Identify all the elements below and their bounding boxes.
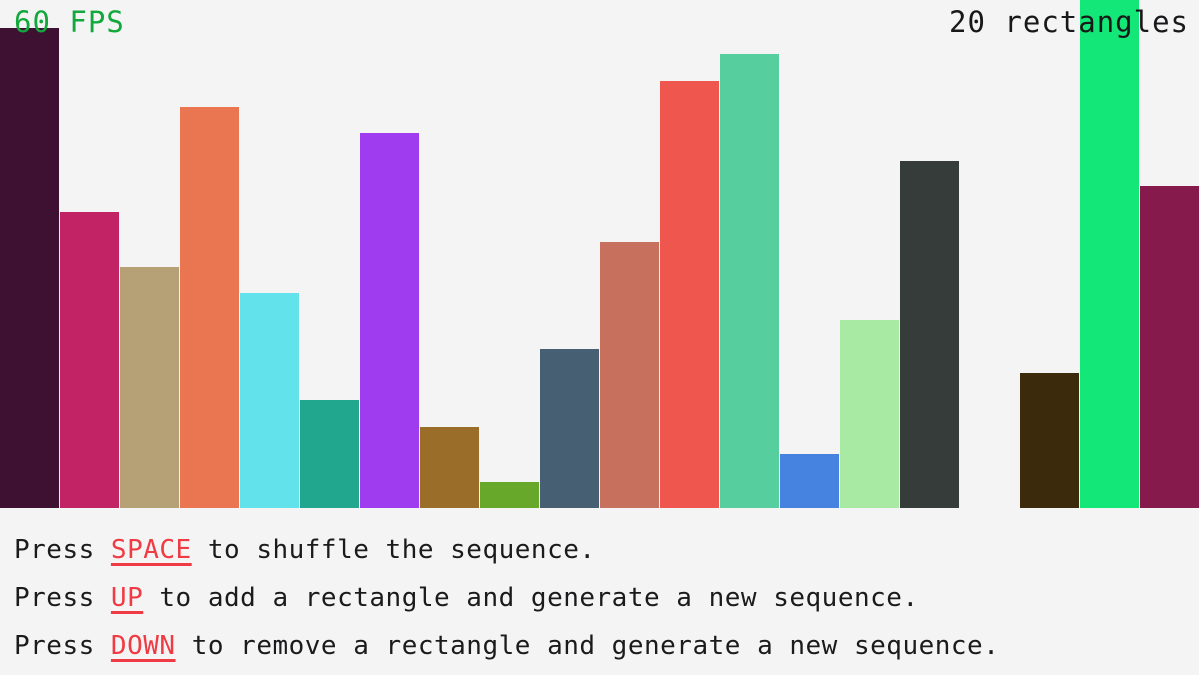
bar-12 <box>660 81 719 508</box>
bar-8 <box>420 427 479 508</box>
key-down[interactable]: DOWN <box>111 631 176 661</box>
bar-16 <box>900 161 959 508</box>
instruction-line-space: Press SPACE to shuffle the sequence. <box>14 526 1199 574</box>
bar-1 <box>0 28 59 508</box>
bar-2 <box>60 212 119 508</box>
instruction-suffix: to add a rectangle and generate a new se… <box>143 583 918 613</box>
instruction-suffix: to remove a rectangle and generate a new… <box>176 631 1000 661</box>
instruction-prefix: Press <box>14 583 111 613</box>
instruction-suffix: to shuffle the sequence. <box>192 535 596 565</box>
instruction-prefix: Press <box>14 535 111 565</box>
instruction-line-up: Press UP to add a rectangle and generate… <box>14 574 1199 622</box>
instruction-line-down: Press DOWN to remove a rectangle and gen… <box>14 622 1199 670</box>
bar-4 <box>180 107 239 508</box>
bar-13 <box>720 54 779 508</box>
bar-3 <box>120 267 179 508</box>
bar-5 <box>240 293 299 508</box>
instruction-prefix: Press <box>14 631 111 661</box>
bar-11 <box>600 242 659 508</box>
bar-19 <box>1080 0 1139 508</box>
key-up[interactable]: UP <box>111 583 143 613</box>
bar-20 <box>1140 186 1199 508</box>
key-space[interactable]: SPACE <box>111 535 192 565</box>
bar-18 <box>1020 373 1079 508</box>
rectangle-count-label: 20 rectangles <box>949 8 1189 37</box>
bar-14 <box>780 454 839 508</box>
bar-9 <box>480 482 539 508</box>
instructions-panel: Press SPACE to shuffle the sequence. Pre… <box>0 512 1199 675</box>
app-canvas: 60 FPS 20 rectangles Press SPACE to shuf… <box>0 0 1199 675</box>
bar-10 <box>540 349 599 508</box>
fps-counter: 60 FPS <box>14 8 125 37</box>
bar-7 <box>360 133 419 508</box>
bar-6 <box>300 400 359 508</box>
bar-chart <box>0 0 1199 508</box>
bar-15 <box>840 320 899 508</box>
